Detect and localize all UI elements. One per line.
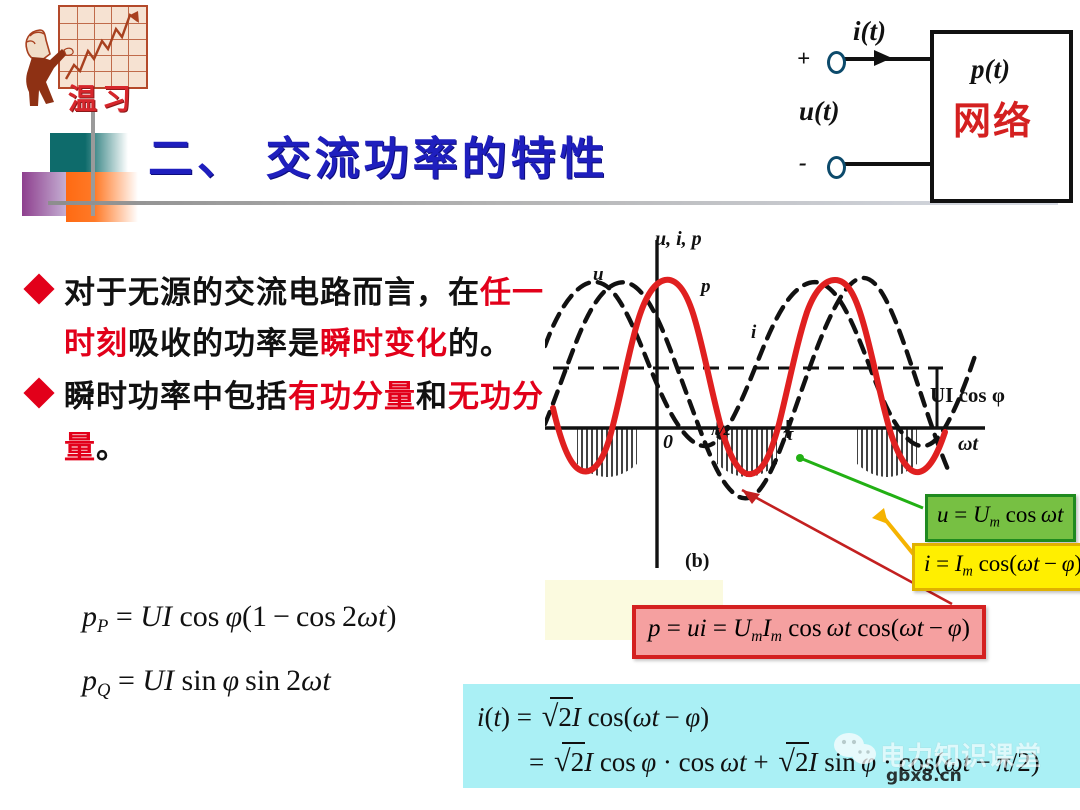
bullet-seg-highlight: 瞬时变化	[320, 326, 448, 362]
bullet-seg-highlight: 有功分量	[288, 379, 416, 415]
formula-reactive-power: pQ = UI sin φ sin 2ωt	[82, 664, 331, 702]
bullet-seg: 吸收的功率是	[128, 326, 320, 362]
bullet-seg: 瞬时功率中包括	[64, 379, 288, 415]
circuit-diagram: + - i(t) u(t) p(t) 网络	[775, 2, 1080, 214]
bullet-text-2: 瞬时功率中包括有功分量和无功分量。	[64, 372, 548, 474]
p-curve-label: p	[701, 276, 711, 298]
average-power-label: UI cos φ	[930, 383, 1005, 408]
x-tick-label-zero: 0	[663, 431, 673, 454]
bullet-item-2: 瞬时功率中包括有功分量和无功分量。	[28, 372, 548, 474]
cyan-line-1: i(t) = √2I cos(ωt − φ)	[477, 694, 1080, 739]
logo-caption: 温习	[68, 76, 136, 118]
formula-active-power: pP = UI cos φ(1 − cos 2ωt)	[82, 600, 397, 638]
bullet-seg: 对于无源的交流电路而言，在	[64, 275, 480, 311]
callout-power-equation: p = ui = UmIm cos ωt cos(ωt − φ)	[632, 605, 986, 659]
bullet-text-1: 对于无源的交流电路而言，在任一时刻吸收的功率是瞬时变化的。	[64, 268, 548, 370]
current-label: i(t)	[853, 16, 886, 47]
power-label: p(t)	[971, 54, 1010, 85]
callout-voltage-equation: u = Um cos ωt	[925, 494, 1076, 542]
u-curve-label: u	[593, 264, 604, 286]
bullet-seg: 和	[416, 379, 448, 415]
current-arrow-icon	[870, 47, 900, 69]
figure-caption: (b)	[685, 550, 709, 573]
plus-sign: +	[797, 46, 810, 72]
page-title: 二、 交流功率的特性	[148, 122, 609, 187]
minus-sign: -	[799, 150, 807, 176]
bullet-diamond-icon	[23, 377, 54, 408]
x-tick-label-half-pi: π/2	[711, 426, 731, 437]
x-tick-label-pi: π	[783, 424, 793, 446]
cyan-line-2: = √2I cos φ · cos ωt + √2I sin φ · cos(ω…	[477, 739, 1080, 784]
voltage-label: u(t)	[799, 96, 840, 127]
bullet-seg: 。	[96, 430, 128, 466]
y-axis-label: u, i, p	[655, 228, 702, 251]
x-tick-half-pi-text: π/2	[711, 423, 731, 439]
bullet-diamond-icon	[23, 273, 54, 304]
terminal-positive	[827, 51, 846, 74]
bottom-wire	[837, 162, 933, 166]
bullet-item-1: 对于无源的交流电路而言，在任一时刻吸收的功率是瞬时变化的。	[28, 268, 548, 370]
review-logo: 温习	[8, 2, 148, 120]
i-curve-label: i	[751, 322, 756, 344]
cyan-derivation-box: i(t) = √2I cos(ωt − φ) = √2I cos φ · cos…	[463, 684, 1080, 788]
x-axis-label: ωt	[958, 433, 978, 456]
terminal-negative	[827, 156, 846, 179]
callout-current-equation: i = Im cos(ωt − φ)	[912, 543, 1080, 591]
bullet-list: 对于无源的交流电路而言，在任一时刻吸收的功率是瞬时变化的。 瞬时功率中包括有功分…	[28, 268, 548, 476]
network-label: 网络	[953, 90, 1033, 145]
bullet-seg: 的。	[448, 326, 512, 362]
decor-block-orange	[66, 172, 138, 222]
